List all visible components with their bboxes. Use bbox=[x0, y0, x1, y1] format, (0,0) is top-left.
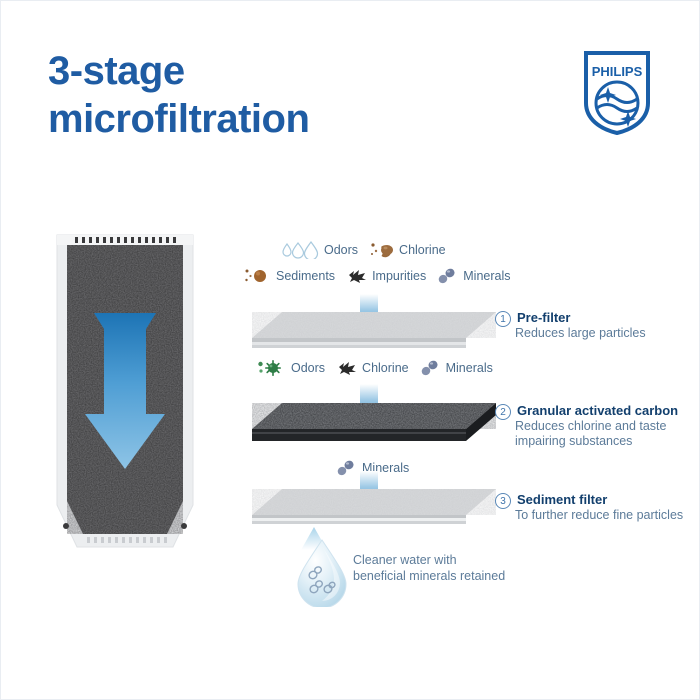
stage-3-number: 3 bbox=[495, 493, 511, 509]
legend-item-minerals: Minerals bbox=[437, 267, 510, 285]
stage-3-text: 3 Sediment filter To further reduce fine… bbox=[495, 492, 683, 523]
impurities-blob-icon bbox=[346, 267, 368, 285]
stage-1-text: 1 Pre-filter Reduces large particles bbox=[495, 310, 646, 341]
minerals-spheres-icon bbox=[420, 359, 442, 377]
stage-2-number: 2 bbox=[495, 404, 511, 420]
legend-label: Chlorine bbox=[399, 243, 446, 257]
legend-label: Chlorine bbox=[362, 361, 409, 375]
legend-item-odors-germ: Odors bbox=[257, 359, 325, 377]
philips-logo: PHILIPS bbox=[584, 51, 650, 135]
legend-middle-row: Odors Chlorine Minerals bbox=[257, 359, 493, 377]
clean-water-caption: Cleaner water with beneficial minerals r… bbox=[353, 552, 505, 584]
stage-2-description: Reduces chlorine and taste impairing sub… bbox=[515, 419, 678, 449]
stage-2-text: 2 Granular activated carbon Reduces chlo… bbox=[495, 403, 678, 449]
stage-1-title: Pre-filter bbox=[517, 310, 570, 325]
stage-3-slab bbox=[248, 483, 500, 531]
legend-item-impurities: Impurities bbox=[346, 267, 426, 285]
minerals-spheres-icon bbox=[437, 267, 459, 285]
legend-item-minerals: Minerals bbox=[420, 359, 493, 377]
legend-top-row-1: Odors Chlorine bbox=[280, 241, 446, 259]
legend-label: Odors bbox=[291, 361, 325, 375]
stage-1-number: 1 bbox=[495, 311, 511, 327]
stage-1-description: Reduces large particles bbox=[515, 326, 646, 341]
legend-label: Sediments bbox=[276, 269, 335, 283]
vent-slots-top bbox=[75, 237, 176, 243]
carbon-filter-cartridge bbox=[49, 229, 201, 554]
odors-germ-icon bbox=[257, 359, 287, 377]
stage-3-heading: 3 Sediment filter bbox=[495, 492, 683, 508]
chlorine-blob-icon bbox=[369, 241, 395, 259]
infographic-page: 3-stage microfiltration PHILIPS bbox=[0, 0, 700, 700]
sediments-particles-icon bbox=[244, 267, 272, 285]
odors-droplets-icon bbox=[280, 241, 320, 259]
stage-2-slab bbox=[248, 399, 500, 449]
stage-2-title: Granular activated carbon bbox=[517, 403, 678, 418]
legend-item-chlorine: Chlorine bbox=[369, 241, 446, 259]
legend-label: Minerals bbox=[446, 361, 493, 375]
water-droplet-icon bbox=[292, 537, 352, 607]
legend-item-sediments: Sediments bbox=[244, 267, 335, 285]
legend-label: Impurities bbox=[372, 269, 426, 283]
philips-wordmark: PHILIPS bbox=[592, 64, 643, 79]
stage-1-slab bbox=[248, 306, 500, 354]
legend-top-row-2: Sediments Impurities Minerals bbox=[244, 267, 511, 285]
legend-item-odors: Odors bbox=[280, 241, 358, 259]
stage-2-heading: 2 Granular activated carbon bbox=[495, 403, 678, 419]
stage-3-description: To further reduce fine particles bbox=[515, 508, 683, 523]
chlorine-blob-icon bbox=[336, 359, 358, 377]
page-title: 3-stage microfiltration bbox=[48, 47, 309, 143]
legend-item-chlorine-dark: Chlorine bbox=[336, 359, 409, 377]
stage-3-title: Sediment filter bbox=[517, 492, 607, 507]
clean-water-droplet bbox=[292, 537, 352, 607]
stage-1-heading: 1 Pre-filter bbox=[495, 310, 646, 326]
legend-label: Minerals bbox=[463, 269, 510, 283]
legend-label: Odors bbox=[324, 243, 358, 257]
